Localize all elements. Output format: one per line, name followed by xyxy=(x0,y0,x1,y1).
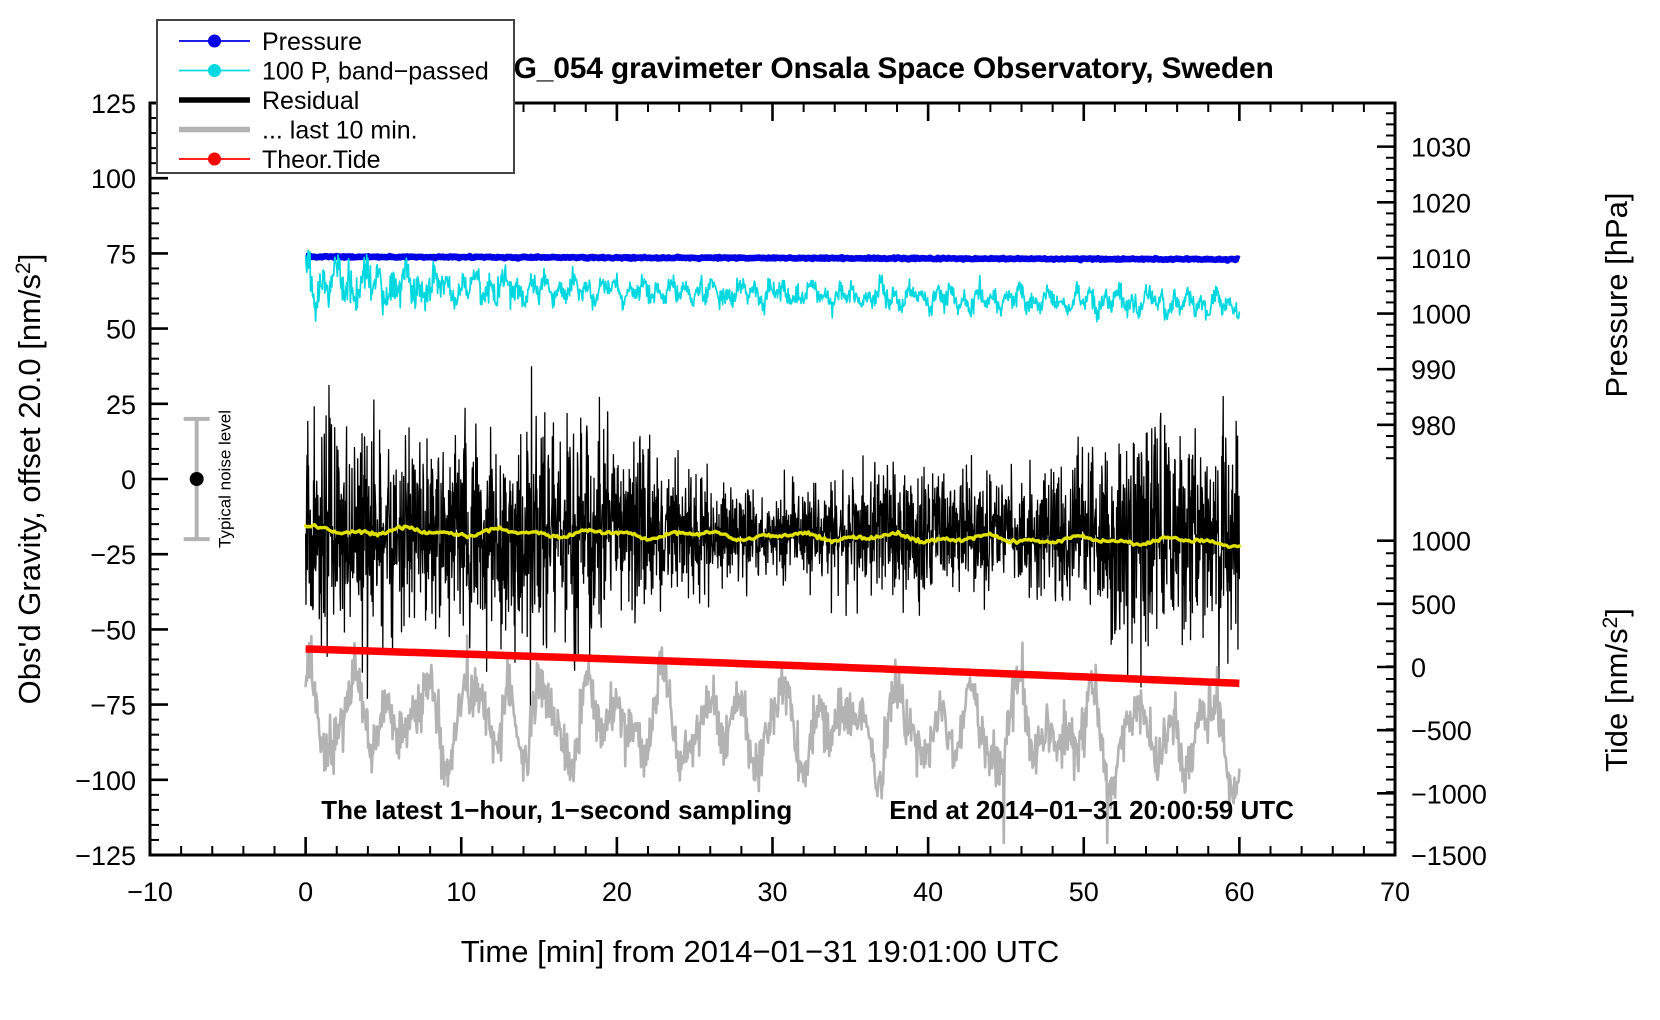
legend-marker-dot xyxy=(208,64,221,77)
tide-tick-label: −500 xyxy=(1411,716,1472,746)
tide-axis-ticks: 10005000−500−1000−1500 xyxy=(1377,527,1487,871)
series-theoretical-tide xyxy=(306,649,1240,683)
noise-center-dot xyxy=(190,472,204,486)
legend-label: 100 P, band−passed xyxy=(262,58,489,86)
x-tick-label: 50 xyxy=(1069,877,1099,907)
page-title: SCG_054 gravimeter Onsala Space Observat… xyxy=(472,52,1273,85)
legend-label: ... last 10 min. xyxy=(262,117,418,145)
tide-tick-label: 0 xyxy=(1411,653,1426,683)
x-tick-label: 30 xyxy=(757,877,787,907)
x-tick-label: 70 xyxy=(1380,877,1410,907)
noise-level-label-group: Typical noise level xyxy=(216,410,235,548)
x-tick-label: 20 xyxy=(602,877,632,907)
y-tick-label: −50 xyxy=(90,615,136,645)
end-time-note: End at 2014−01−31 20:00:59 UTC xyxy=(889,795,1294,825)
legend-label: Residual xyxy=(262,87,359,115)
y-axis-label-left-group: Obs'd Gravity, offset 20.0 [nm/s2] xyxy=(12,254,47,705)
legend: Pressure100 P, band−passedResidual... la… xyxy=(157,20,514,174)
pressure-tick-label: 1030 xyxy=(1411,133,1471,163)
pressure-tick-label: 1010 xyxy=(1411,244,1471,274)
x-tick-label: −10 xyxy=(127,877,173,907)
tide-tick-label: −1500 xyxy=(1411,841,1487,871)
tide-tick-label: 1000 xyxy=(1411,527,1471,557)
noise-level-marker: Typical noise level xyxy=(184,410,235,548)
legend-marker-dot xyxy=(208,153,221,166)
sampling-note: The latest 1−hour, 1−second sampling xyxy=(321,795,792,825)
y-tick-label: 100 xyxy=(91,164,136,194)
y-tick-label: −25 xyxy=(90,540,136,570)
y-tick-label: −100 xyxy=(75,766,136,796)
tide-tick-label: −1000 xyxy=(1411,779,1487,809)
pressure-axis-ticks: 1030102010101000990980 xyxy=(1377,113,1471,458)
legend-label: Theor.Tide xyxy=(262,146,381,174)
tide-tick-label: 500 xyxy=(1411,590,1456,620)
x-axis-label: Time [min] from 2014−01−31 19:01:00 UTC xyxy=(461,934,1060,969)
y-axis-ticks-left: 1251007550250−25−50−75−100−125 xyxy=(75,89,168,871)
y-tick-label: 0 xyxy=(121,465,136,495)
x-tick-label: 60 xyxy=(1224,877,1254,907)
data-series-group xyxy=(306,250,1240,843)
x-tick-label: 40 xyxy=(913,877,943,907)
tide-axis-label: Tide [nm/s2] xyxy=(1599,608,1634,772)
gravimeter-plot-page: −10010203040506070 1251007550250−25−50−7… xyxy=(0,0,1660,1020)
y-tick-label: 125 xyxy=(91,89,136,119)
legend-label: Pressure xyxy=(262,28,362,56)
series-pressure xyxy=(306,256,1240,261)
y-tick-label: −75 xyxy=(90,691,136,721)
pressure-tick-label: 980 xyxy=(1411,411,1456,441)
pressure-tick-label: 1020 xyxy=(1411,188,1471,218)
noise-level-label: Typical noise level xyxy=(216,410,235,548)
pressure-axis-label-group: Pressure [hPa] xyxy=(1599,192,1634,397)
legend-marker-dot xyxy=(208,35,221,48)
x-tick-label: 0 xyxy=(298,877,313,907)
y-tick-label: 25 xyxy=(106,390,136,420)
pressure-tick-label: 990 xyxy=(1411,355,1456,385)
y-tick-label: 75 xyxy=(106,239,136,269)
plot-canvas: −10010203040506070 1251007550250−25−50−7… xyxy=(0,0,1660,1020)
pressure-axis-label: Pressure [hPa] xyxy=(1599,192,1634,397)
y-tick-label: −125 xyxy=(75,841,136,871)
tide-axis-label-group: Tide [nm/s2] xyxy=(1599,608,1634,772)
y-axis-label-left: Obs'd Gravity, offset 20.0 [nm/s2] xyxy=(12,254,47,705)
y-tick-label: 50 xyxy=(106,315,136,345)
pressure-tick-label: 1000 xyxy=(1411,300,1471,330)
x-tick-label: 10 xyxy=(446,877,476,907)
